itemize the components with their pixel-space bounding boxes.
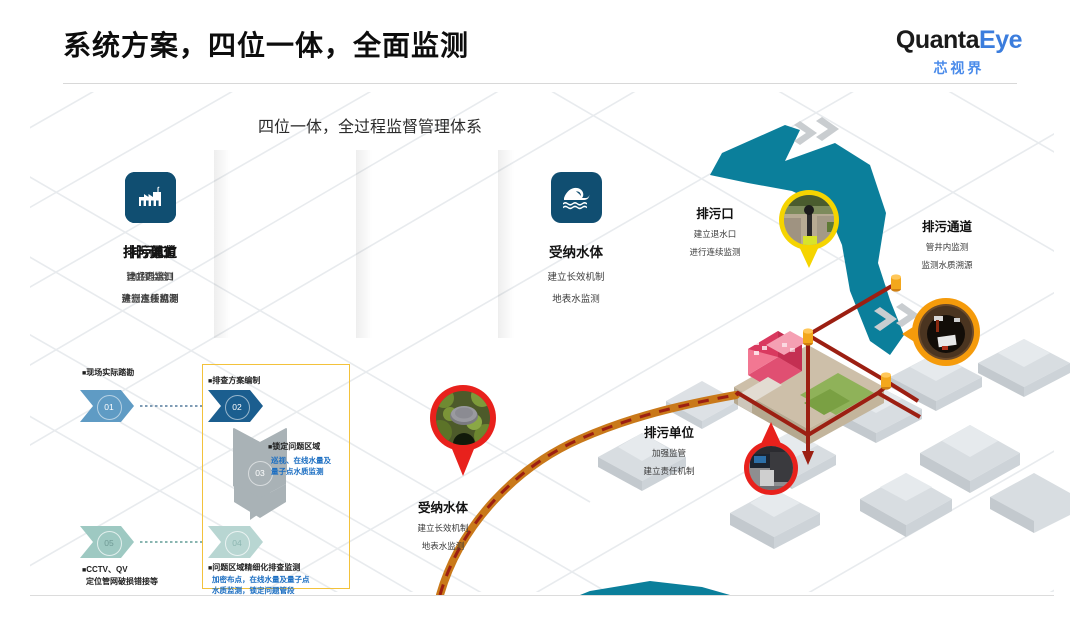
process-flow-diagram: ■现场实际踏勘 ■排查方案编制 01 02 03 ■锁定问题区域 [78, 364, 350, 592]
logo-subtitle: 芯视界 [896, 58, 1022, 78]
maplabel-channel: 排污通道 管井内监测 监测水质溯源 [892, 216, 1002, 271]
card-title: 排污单位 [85, 241, 215, 261]
brand-logo: QuantaEye 芯视界 [896, 28, 1022, 78]
flow-step5-number: 05 [96, 530, 122, 556]
river-lower [412, 581, 842, 595]
card-divider-1 [214, 150, 230, 338]
flow-step4-detail: 加密布点，在线水量及量子点水质监测，锁定问题管段 [212, 575, 336, 597]
card-discharge-unit[interactable]: 排污单位 加强监管 建立责任机制 [85, 150, 215, 340]
maplabel-receiving-water: 受纳水体 建立长效机制 地表水监测 [388, 497, 498, 552]
slide-root: 系统方案，四位一体，全面监测 QuantaEye 芯视界 四位一体，全过程监督管… [0, 0, 1080, 618]
flow-step4-number: 04 [224, 530, 250, 556]
flow-step2-label: ■排查方案编制 [208, 375, 260, 386]
flow-step1-number: 01 [96, 394, 122, 420]
logo-text-e: E [979, 26, 995, 54]
bubble-discharge-unit-photo[interactable] [740, 420, 802, 503]
bubble-receiving-water-photo[interactable] [428, 382, 498, 483]
flow-step3-label: ■锁定问题区域 [268, 441, 320, 452]
flow-step4-label: ■问题区域精细化排查监测 [208, 562, 300, 573]
flow-step5-label: ■CCTV、QV [82, 564, 128, 575]
bubble-pipe-interior-photo[interactable] [898, 294, 982, 375]
page-title: 系统方案，四位一体，全面监测 [63, 24, 469, 64]
flow-step5-label-2: 定位管网破损错接等 [86, 576, 158, 587]
logo-text-quanta: Quanta [896, 26, 979, 54]
maplabel-discharge-unit: 排污单位 加强监管 建立责任机制 [614, 422, 724, 477]
card-line-2: 建立责任机制 [85, 291, 215, 305]
flow-step1-label: ■现场实际踏勘 [82, 367, 134, 378]
maplabel-outfall: 排污口 建立退水口 进行连续监测 [660, 203, 770, 258]
flow-step3-number: 03 [247, 460, 273, 486]
footer-divider [30, 595, 1054, 596]
card-line-1: 加强监管 [85, 269, 215, 283]
bubble-outfall-photo[interactable] [777, 188, 841, 277]
logo-text-ye: ye [995, 26, 1022, 54]
header-divider [63, 83, 1017, 84]
flow-step2-number: 02 [224, 394, 250, 420]
factory-icon [125, 172, 176, 223]
